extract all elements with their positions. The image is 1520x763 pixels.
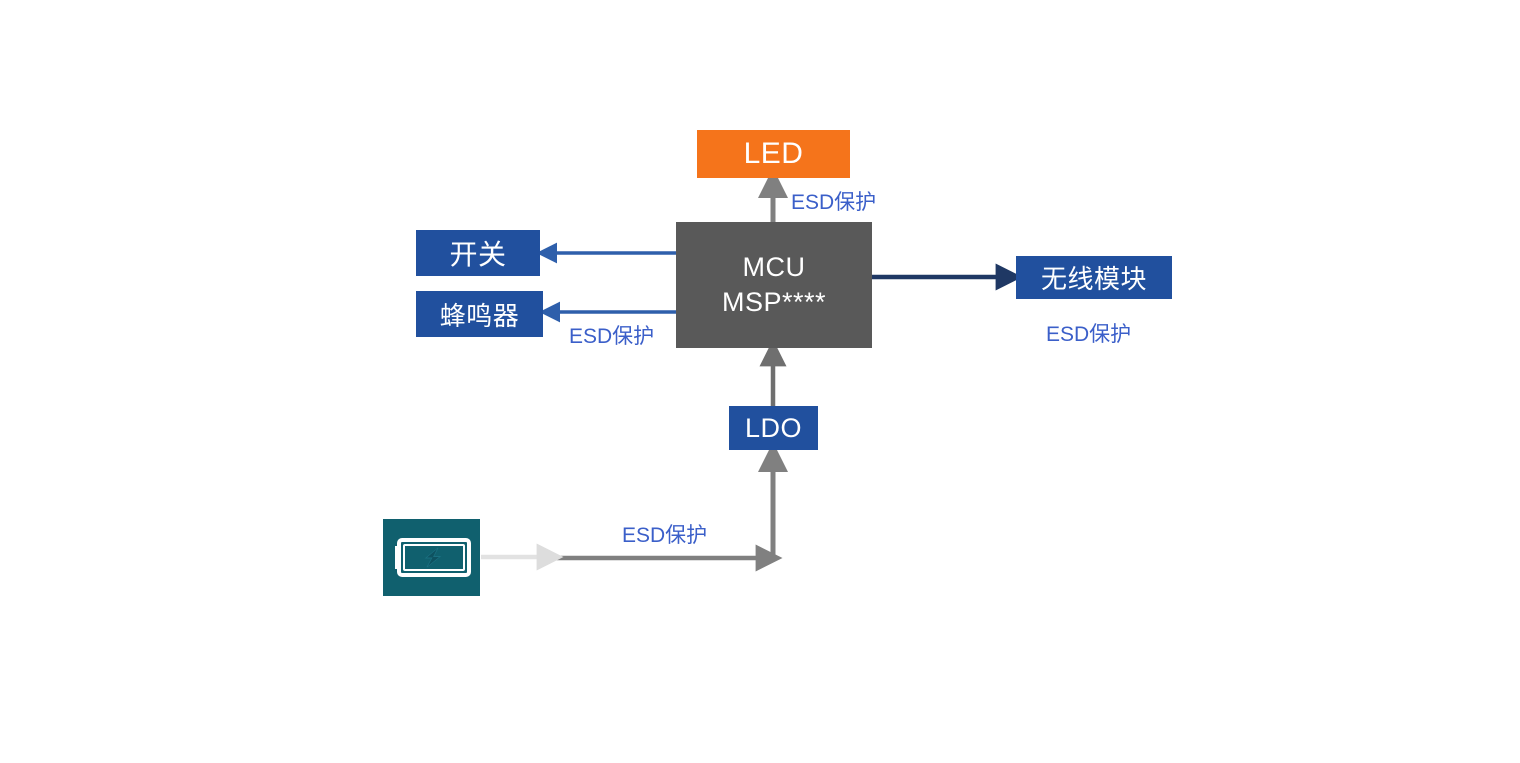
diagram-canvas: LED MCU MSP**** 开关 蜂鸣器 无线模块 LDO ESD保护 ES… <box>0 0 1520 763</box>
block-buzzer[interactable]: 蜂鸣器 <box>416 291 543 337</box>
label-esd-buzzer: ESD保护 <box>569 320 654 350</box>
block-switch[interactable]: 开关 <box>416 230 540 276</box>
label-esd-battery: ESD保护 <box>622 519 707 549</box>
battery-charging-icon <box>383 519 480 596</box>
block-mcu-label-line1: MCU <box>743 250 806 285</box>
block-ldo-label: LDO <box>745 413 802 444</box>
block-buzzer-label: 蜂鸣器 <box>440 296 520 333</box>
block-wireless-module[interactable]: 无线模块 <box>1016 256 1172 299</box>
block-ldo[interactable]: LDO <box>729 406 818 450</box>
block-mcu[interactable]: MCU MSP**** <box>676 222 872 348</box>
block-led[interactable]: LED <box>697 130 850 178</box>
label-esd-led: ESD保护 <box>791 186 876 216</box>
block-mcu-label-line2: MSP**** <box>722 285 826 320</box>
label-esd-wireless: ESD保护 <box>1046 318 1131 348</box>
block-led-label: LED <box>744 137 804 171</box>
block-wireless-module-label: 无线模块 <box>1041 259 1147 296</box>
connector-layer <box>0 0 1520 763</box>
block-switch-label: 开关 <box>449 233 506 273</box>
